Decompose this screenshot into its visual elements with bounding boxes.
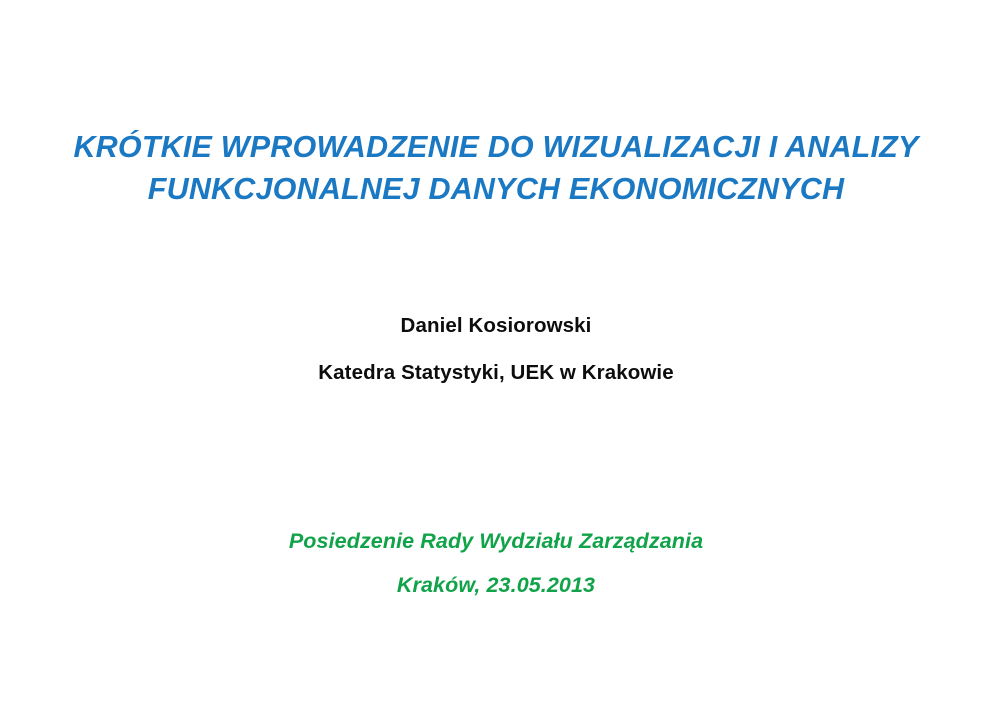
- title-line-2: FUNKCJONALNEJ DANYCH EKONOMICZNYCH: [0, 168, 992, 210]
- author-affiliation: Katedra Statystyki, UEK w Krakowie: [0, 349, 992, 396]
- author-name: Daniel Kosiorowski: [0, 302, 992, 349]
- title-line-1: KRÓTKIE WPROWADZENIE DO WIZUALIZACJI I A…: [0, 126, 992, 168]
- slide-title: KRÓTKIE WPROWADZENIE DO WIZUALIZACJI I A…: [0, 126, 992, 210]
- event-occasion: Posiedzenie Rady Wydziału Zarządzania: [0, 519, 992, 563]
- event-block: Posiedzenie Rady Wydziału Zarządzania Kr…: [0, 519, 992, 607]
- event-place-date: Kraków, 23.05.2013: [0, 563, 992, 607]
- presentation-title-slide: KRÓTKIE WPROWADZENIE DO WIZUALIZACJI I A…: [0, 0, 992, 702]
- author-block: Daniel Kosiorowski Katedra Statystyki, U…: [0, 302, 992, 396]
